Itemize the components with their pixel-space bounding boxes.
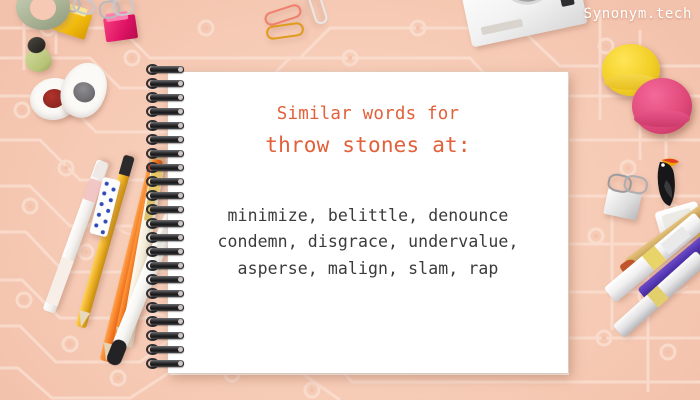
spiral-punch-hole [178,123,183,128]
spiral-punch-hole [178,81,183,86]
synonyms-line: minimize, belittle, denounce [188,203,548,230]
spiral-punch-hole [178,67,183,72]
spiral-coil [150,136,184,143]
spiral-coil [150,262,184,269]
spiral-punch-hole [178,179,183,184]
spiral-coil [150,80,184,87]
spiral-coil [150,318,184,325]
spiral-punch-hole [178,95,183,100]
synonyms-list: minimize, belittle, denounce condemn, di… [188,203,548,283]
spiral-punch-hole [178,151,183,156]
spiral-coil [150,178,184,185]
spiral-coil [150,66,184,73]
spiral-coil [150,94,184,101]
macaron-pink [632,78,692,134]
brand-logo: Synonym.tech [584,6,692,22]
spiral-punch-hole [178,291,183,296]
spiral-coil [150,360,184,367]
notebook: Similar words for throw stones at: minim… [150,60,570,375]
spiral-coil [150,234,184,241]
synonyms-line: asperse, malign, slam, rap [188,256,548,283]
spiral-punch-hole [178,333,183,338]
spiral-coil [150,290,184,297]
spiral-punch-hole [178,347,183,352]
spiral-punch-hole [178,249,183,254]
spiral-punch-hole [178,235,183,240]
spiral-coil [150,164,184,171]
spiral-punch-hole [178,361,183,366]
spiral-coil [150,122,184,129]
notebook-title: Similar words for throw stones at: [265,102,471,161]
spiral-coil [150,346,184,353]
spiral-punch-hole [178,137,183,142]
spiral-punch-hole [178,305,183,310]
spiral-coil [150,248,184,255]
notebook-content: Similar words for throw stones at: minim… [168,72,568,373]
spiral-coil [150,192,184,199]
spiral-coil [150,304,184,311]
spiral-punch-hole [178,165,183,170]
title-line-1: Similar words for [265,102,471,127]
spiral-punch-hole [178,221,183,226]
title-line-2-headword: throw stones at: [265,131,471,161]
spiral-punch-hole [178,277,183,282]
spiral-coil [150,150,184,157]
spiral-punch-hole [178,193,183,198]
washi-tape-roll [16,0,70,30]
spiral-punch-hole [178,263,183,268]
spiral-binding [150,60,196,375]
spiral-coil [150,206,184,213]
synonyms-line: condemn, disgrace, undervalue, [188,229,548,256]
binder-clip-pink [98,3,147,45]
spiral-coil [150,332,184,339]
spiral-punch-hole [178,207,183,212]
desk-scene: Similar words for throw stones at: minim… [0,0,700,400]
spiral-coil [150,108,184,115]
spiral-coil [150,276,184,283]
spiral-coil [150,220,184,227]
spiral-punch-hole [178,109,183,114]
spiral-punch-hole [178,319,183,324]
